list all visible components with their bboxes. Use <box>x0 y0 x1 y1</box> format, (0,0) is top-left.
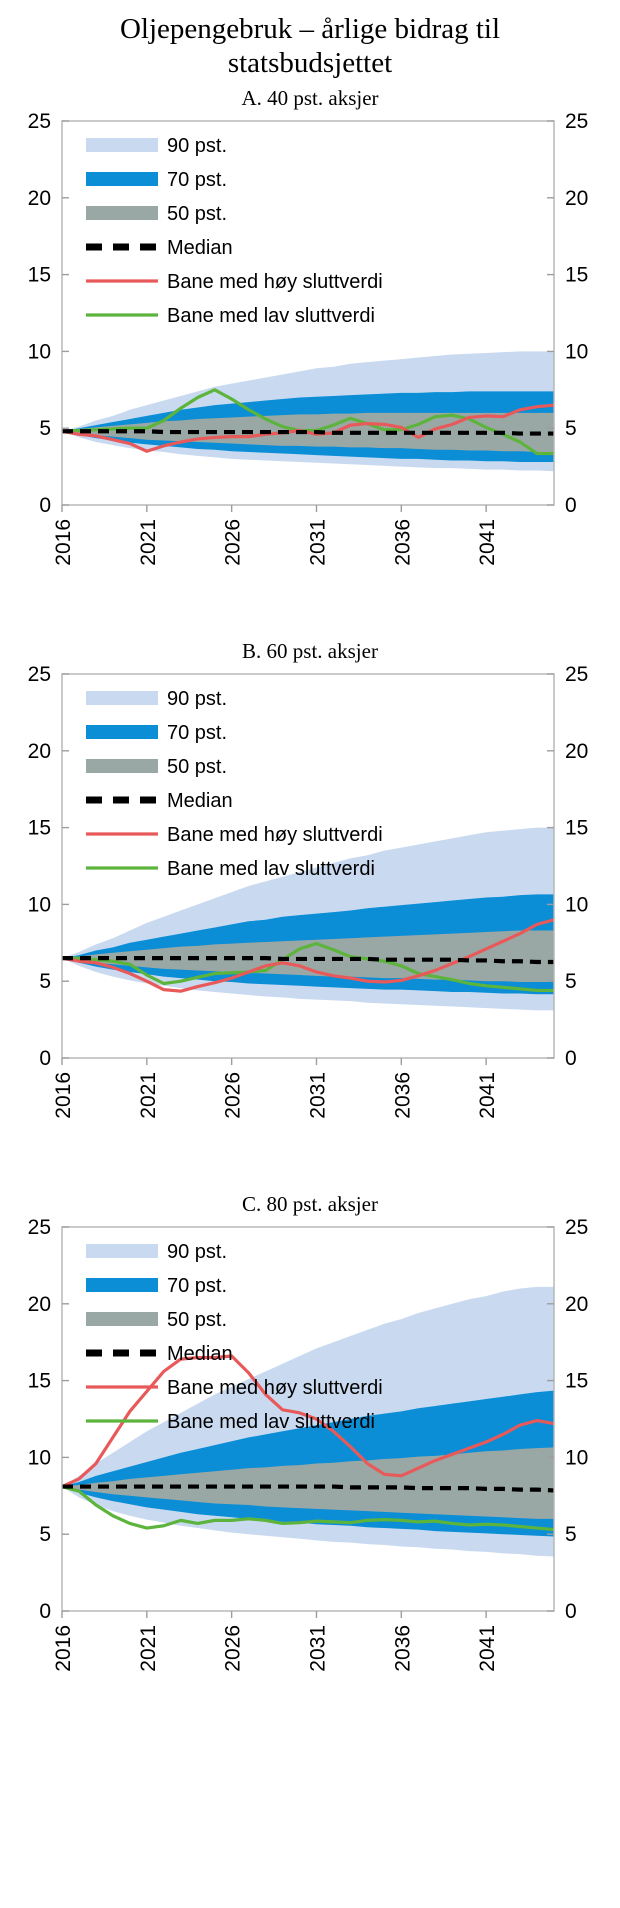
legend-swatch-band <box>86 759 158 773</box>
page-title: Oljepengebruk – årlige bidrag til statsb… <box>0 0 620 80</box>
legend-label: Median <box>167 790 233 812</box>
legend-label: Median <box>167 237 233 259</box>
x-tick-label: 2021 <box>137 1072 160 1119</box>
y-tick-label-right: 0 <box>565 1047 577 1070</box>
legend-swatch-band <box>86 691 158 705</box>
y-tick-label-left: 15 <box>28 817 51 840</box>
x-tick-label: 2026 <box>222 1072 245 1119</box>
legend-swatch-band <box>86 1312 158 1326</box>
y-tick-label-left: 10 <box>28 341 51 364</box>
chart-page: Oljepengebruk – årlige bidrag til statsb… <box>0 0 620 1908</box>
y-tick-label-left: 10 <box>28 1447 51 1470</box>
legend-label: Bane med høy sluttverdi <box>167 271 383 293</box>
y-tick-label-right: 20 <box>565 1293 588 1316</box>
legend-label: 90 pst. <box>167 1241 227 1263</box>
panel-c-chart: 0055101015152020252520162021202620312036… <box>0 1219 620 1739</box>
x-tick-label: 2021 <box>137 1625 160 1672</box>
legend-label: 50 pst. <box>167 756 227 778</box>
panel-c: C. 80 pst. aksjer 0055101015152020252520… <box>0 1186 620 1739</box>
legend-label: 90 pst. <box>167 135 227 157</box>
y-tick-label-right: 20 <box>565 187 588 210</box>
y-tick-label-right: 10 <box>565 894 588 917</box>
x-tick-label: 2036 <box>391 519 414 566</box>
panel-a-svg: 0055101015152020252520162021202620312036… <box>0 113 620 633</box>
y-tick-label-right: 25 <box>565 113 588 133</box>
x-tick-label: 2031 <box>306 1625 329 1672</box>
legend-label: 90 pst. <box>167 688 227 710</box>
y-tick-label-right: 15 <box>565 1370 588 1393</box>
panel-c-title: C. 80 pst. aksjer <box>0 1186 620 1219</box>
y-tick-label-left: 20 <box>28 740 51 763</box>
y-tick-label-right: 25 <box>565 1219 588 1239</box>
x-tick-label: 2016 <box>52 519 75 566</box>
y-tick-label-right: 10 <box>565 341 588 364</box>
panel-b-svg: 0055101015152020252520162021202620312036… <box>0 666 620 1186</box>
x-tick-label: 2021 <box>137 519 160 566</box>
legend-label: Bane med høy sluttverdi <box>167 824 383 846</box>
legend-label: 50 pst. <box>167 1309 227 1331</box>
y-tick-label-left: 5 <box>39 418 51 441</box>
panel-a-title: A. 40 pst. aksjer <box>0 80 620 113</box>
y-tick-label-left: 5 <box>39 1524 51 1547</box>
y-tick-label-left: 0 <box>39 494 51 517</box>
x-tick-label: 2016 <box>52 1625 75 1672</box>
x-tick-label: 2026 <box>222 519 245 566</box>
x-tick-label: 2041 <box>476 1072 499 1119</box>
y-tick-label-right: 20 <box>565 740 588 763</box>
legend-swatch-band <box>86 206 158 220</box>
legend-label: 70 pst. <box>167 1275 227 1297</box>
x-tick-label: 2016 <box>52 1072 75 1119</box>
panel-c-svg: 0055101015152020252520162021202620312036… <box>0 1219 620 1739</box>
y-tick-label-right: 5 <box>565 971 577 994</box>
panel-a-chart: 0055101015152020252520162021202620312036… <box>0 113 620 633</box>
legend-label: Bane med lav sluttverdi <box>167 858 375 880</box>
x-tick-label: 2036 <box>391 1625 414 1672</box>
legend-label: 70 pst. <box>167 169 227 191</box>
legend-swatch-band <box>86 1244 158 1258</box>
y-tick-label-right: 25 <box>565 666 588 686</box>
y-tick-label-left: 20 <box>28 187 51 210</box>
y-tick-label-left: 10 <box>28 894 51 917</box>
y-tick-label-left: 25 <box>28 666 51 686</box>
panel-a: A. 40 pst. aksjer 0055101015152020252520… <box>0 80 620 633</box>
y-tick-label-right: 10 <box>565 1447 588 1470</box>
y-tick-label-right: 5 <box>565 418 577 441</box>
y-tick-label-left: 0 <box>39 1600 51 1623</box>
legend-label: Median <box>167 1343 233 1365</box>
legend-label: Bane med lav sluttverdi <box>167 305 375 327</box>
legend-swatch-band <box>86 172 158 186</box>
x-tick-label: 2041 <box>476 1625 499 1672</box>
y-tick-label-left: 15 <box>28 264 51 287</box>
y-tick-label-left: 15 <box>28 1370 51 1393</box>
x-tick-label: 2031 <box>306 1072 329 1119</box>
y-tick-label-right: 0 <box>565 494 577 517</box>
y-tick-label-right: 0 <box>565 1600 577 1623</box>
legend-swatch-band <box>86 138 158 152</box>
legend-label: Bane med lav sluttverdi <box>167 1411 375 1433</box>
x-tick-label: 2041 <box>476 519 499 566</box>
y-tick-label-right: 5 <box>565 1524 577 1547</box>
legend-label: 50 pst. <box>167 203 227 225</box>
panel-b: B. 60 pst. aksjer 0055101015152020252520… <box>0 633 620 1186</box>
y-tick-label-left: 25 <box>28 1219 51 1239</box>
legend-label: Bane med høy sluttverdi <box>167 1377 383 1399</box>
y-tick-label-left: 5 <box>39 971 51 994</box>
x-tick-label: 2026 <box>222 1625 245 1672</box>
legend-label: 70 pst. <box>167 722 227 744</box>
panel-b-title: B. 60 pst. aksjer <box>0 633 620 666</box>
y-tick-label-left: 25 <box>28 113 51 133</box>
y-tick-label-right: 15 <box>565 264 588 287</box>
x-tick-label: 2036 <box>391 1072 414 1119</box>
y-tick-label-right: 15 <box>565 817 588 840</box>
panel-b-chart: 0055101015152020252520162021202620312036… <box>0 666 620 1186</box>
y-tick-label-left: 20 <box>28 1293 51 1316</box>
x-tick-label: 2031 <box>306 519 329 566</box>
legend-swatch-band <box>86 725 158 739</box>
y-tick-label-left: 0 <box>39 1047 51 1070</box>
legend-swatch-band <box>86 1278 158 1292</box>
